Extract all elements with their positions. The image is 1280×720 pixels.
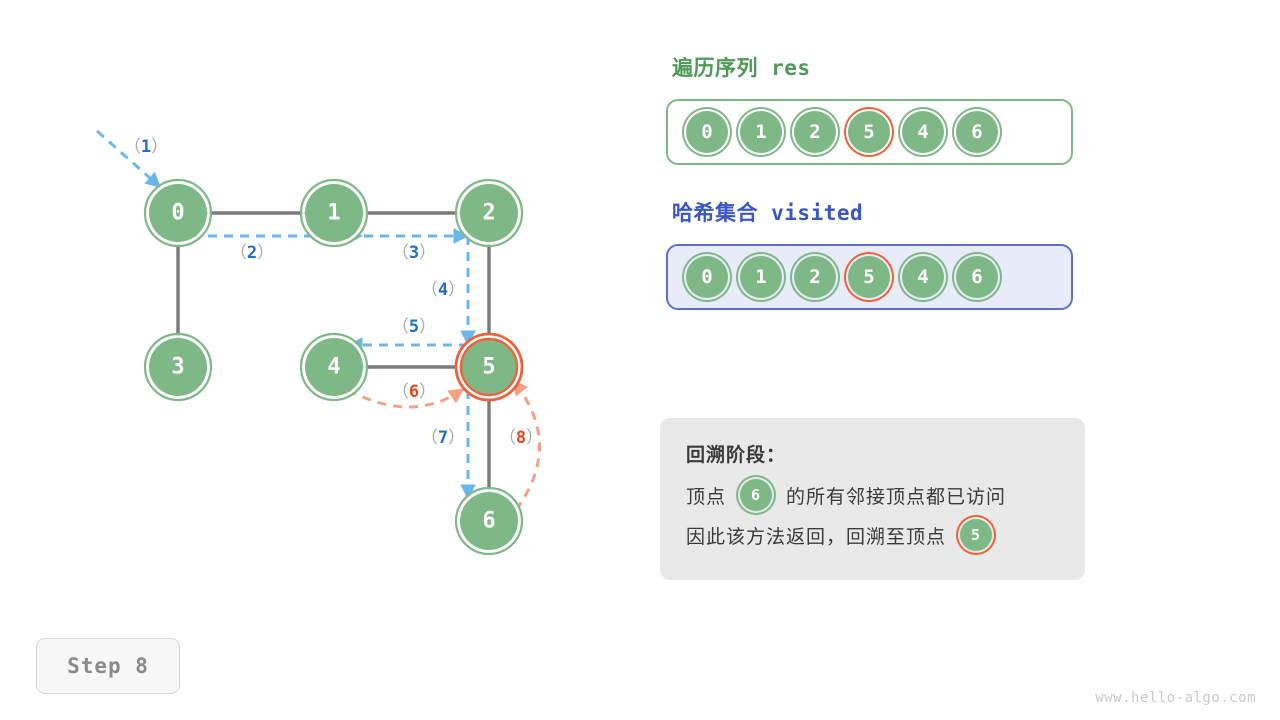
info-line-1-before: 顶点	[686, 482, 726, 509]
graph-node-6[interactable]: 6	[456, 488, 522, 554]
graph-node-2-label: 2	[482, 201, 495, 226]
res-item-1[interactable]: 1	[740, 111, 782, 153]
res-box: 0 1 2 5 4 6	[666, 99, 1073, 165]
res-item-5[interactable]: 6	[956, 111, 998, 153]
visited-item-5[interactable]: 6	[956, 256, 998, 298]
step-label-6: （6）	[392, 382, 436, 402]
graph-node-5[interactable]: 5	[456, 334, 522, 400]
right-panel: 遍历序列 res 0 1 2 5 4 6 哈希集合 visited 0 1 2 …	[666, 52, 1086, 310]
info-card: 回溯阶段： 顶点 6 的所有邻接顶点都已访问 因此该方法返回，回溯至顶点 5	[660, 418, 1085, 580]
graph-nodes: 0 1 2	[145, 180, 522, 554]
step-label-7: （7）	[421, 428, 465, 448]
graph-node-2[interactable]: 2	[456, 180, 522, 246]
spacer	[666, 165, 1086, 197]
visited-item-4[interactable]: 4	[902, 256, 944, 298]
info-line-1: 顶点 6 的所有邻接顶点都已访问	[686, 479, 1059, 511]
graph-node-5-label: 5	[482, 355, 495, 380]
visited-title: 哈希集合 visited	[672, 197, 1086, 227]
graph-node-0-label: 0	[171, 201, 184, 226]
step-badge: Step 8	[36, 638, 180, 694]
graph-node-4-label: 4	[327, 355, 340, 380]
graph-svg: 0 1 2	[0, 0, 640, 620]
visited-item-0[interactable]: 0	[686, 256, 728, 298]
step-label-3: （3）	[392, 243, 436, 263]
graph-node-0[interactable]: 0	[145, 180, 211, 246]
res-item-3[interactable]: 5	[848, 111, 890, 153]
graph-panel: 0 1 2	[0, 0, 640, 620]
step-label-1: （1）	[124, 137, 168, 157]
graph-node-6-label: 6	[482, 509, 495, 534]
step-label-8: （8）	[499, 428, 543, 448]
graph-node-1-label: 1	[327, 201, 340, 226]
graph-node-1[interactable]: 1	[301, 180, 367, 246]
visited-item-1[interactable]: 1	[740, 256, 782, 298]
visited-item-2[interactable]: 2	[794, 256, 836, 298]
info-line-2-token: 5	[960, 519, 992, 551]
info-line-1-after: 的所有邻接顶点都已访问	[786, 482, 1006, 509]
forward-arrows	[97, 131, 468, 497]
visited-box: 0 1 2 5 4 6	[666, 244, 1073, 310]
graph-node-3[interactable]: 3	[145, 334, 211, 400]
info-heading: 回溯阶段：	[686, 440, 1059, 467]
info-line-2: 因此该方法返回，回溯至顶点 5	[686, 519, 1059, 551]
footer-url: www.hello-algo.com	[1095, 690, 1256, 706]
res-title: 遍历序列 res	[672, 52, 1086, 82]
res-item-0[interactable]: 0	[686, 111, 728, 153]
graph-node-3-label: 3	[171, 355, 184, 380]
step-label-4: （4）	[421, 280, 465, 300]
step-label-5: （5）	[392, 317, 436, 337]
visited-item-3[interactable]: 5	[848, 256, 890, 298]
illustration-canvas: 0 1 2	[0, 0, 1280, 720]
info-line-1-token: 6	[740, 479, 772, 511]
graph-node-4[interactable]: 4	[301, 334, 367, 400]
res-item-4[interactable]: 4	[902, 111, 944, 153]
step-label-2: （2）	[230, 243, 274, 263]
info-line-2-before: 因此该方法返回，回溯至顶点	[686, 522, 946, 549]
res-item-2[interactable]: 2	[794, 111, 836, 153]
